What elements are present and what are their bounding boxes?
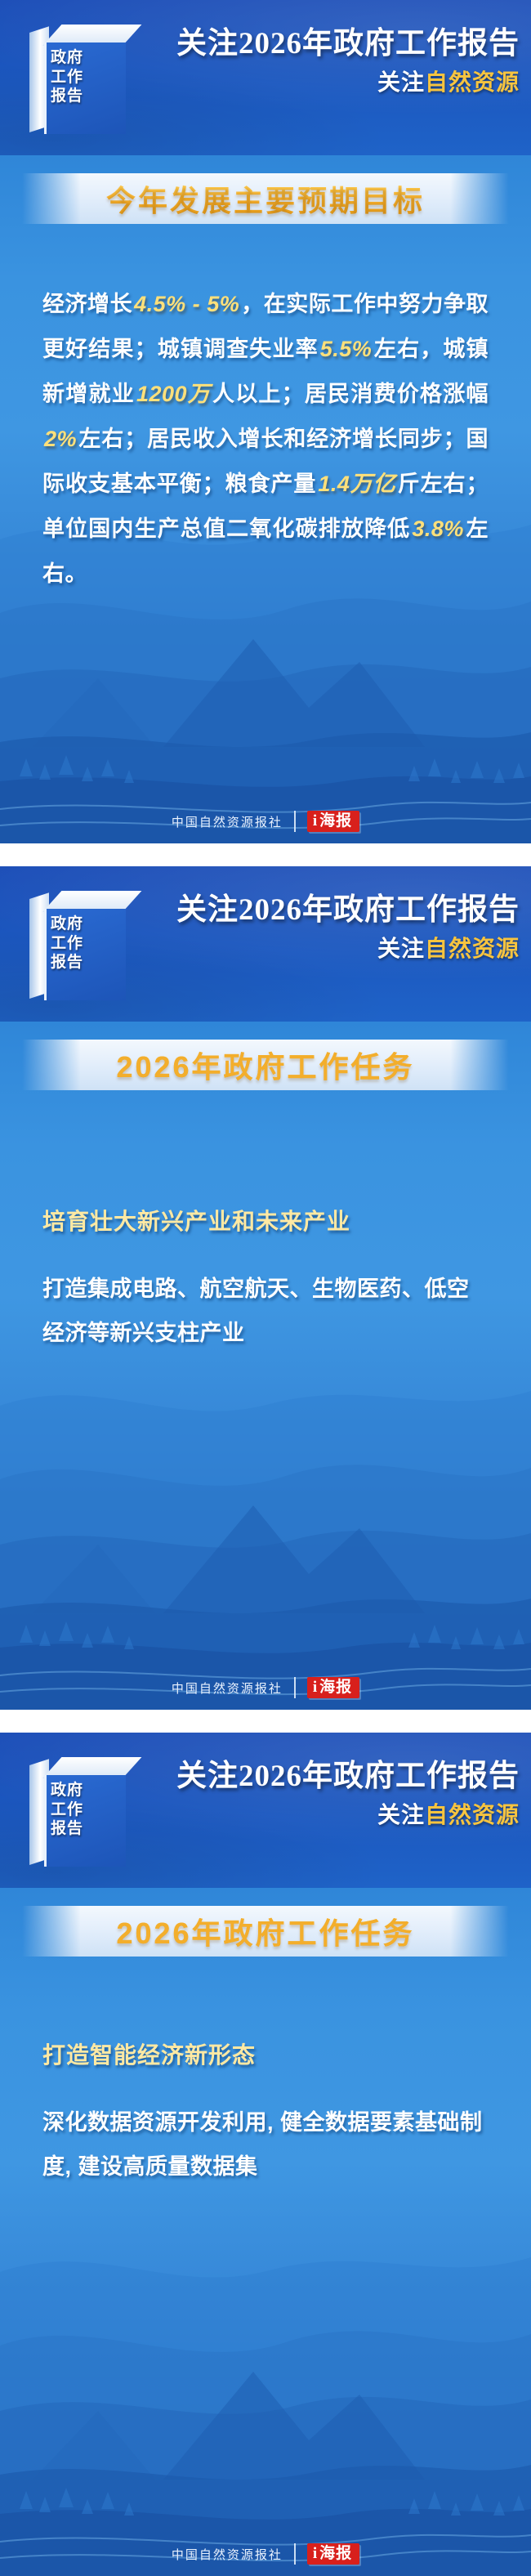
badge-label: 海报 — [319, 1679, 352, 1695]
publisher-name: 中国自然资源报社 — [172, 2546, 283, 2563]
section-banner: 2026年政府工作任务 — [22, 1040, 509, 1090]
header-titles: 关注2026年政府工作报告 关注自然资源 — [131, 1759, 520, 1828]
subtitle-accent: 自然资源 — [425, 1802, 520, 1827]
metric-value: 4.5% - 5% — [132, 292, 241, 316]
poster-stack: 政府 工作 报告 关注2026年政府工作报告 关注自然资源 — [0, 0, 531, 2576]
publisher-name: 中国自然资源报社 — [172, 813, 283, 830]
poster-footer: 中国自然资源报社 i 海报 — [0, 745, 531, 843]
book-label: 政府 工作 报告 — [51, 49, 126, 105]
task-body: 深化数据资源开发利用, 健全数据要素基础制度, 建设高质量数据集 — [42, 2100, 489, 2189]
book-label-line-2: 工作 — [51, 1801, 126, 1819]
footer-divider — [294, 811, 296, 832]
footer-bar: 中国自然资源报社 i 海报 — [0, 2543, 531, 2565]
section-banner-text: 2026年政府工作任务 — [116, 1910, 414, 1952]
goals-paragraph: 经济增长4.5% - 5%，在实际工作中努力争取更好结果；城镇调查失业率5.5%… — [42, 282, 489, 597]
poster-footer: 中国自然资源报社 i 海报 — [0, 2478, 531, 2576]
poster-header: 政府 工作 报告 关注2026年政府工作报告 关注自然资源 — [0, 866, 531, 1022]
report-book-icon: 政府 工作 报告 — [29, 891, 126, 999]
book-label-line-1: 政府 — [51, 1782, 126, 1800]
page-subtitle: 关注自然资源 — [131, 1801, 520, 1829]
paragraph-run: 经济增长 — [42, 292, 132, 316]
poster-header: 政府 工作 报告 关注2026年政府工作报告 关注自然资源 — [0, 1733, 531, 1888]
poster-content: 打造智能经济新形态 深化数据资源开发利用, 健全数据要素基础制度, 建设高质量数… — [0, 1957, 531, 2189]
section-banner: 2026年政府工作任务 — [22, 1906, 509, 1957]
poster-body: 2026年政府工作任务 打造智能经济新形态 深化数据资源开发利用, 健全数据要素… — [0, 1888, 531, 2576]
task-subtitle: 打造智能经济新形态 — [42, 2038, 489, 2073]
report-book-icon: 政府 工作 报告 — [29, 1757, 126, 1865]
section-banner-text: 2026年政府工作任务 — [116, 1044, 414, 1086]
metric-value: 3.8% — [410, 517, 466, 541]
book-label-line-2: 工作 — [51, 935, 126, 953]
book-label: 政府 工作 报告 — [51, 1782, 126, 1838]
page-subtitle: 关注自然资源 — [131, 69, 520, 96]
badge-label: 海报 — [319, 813, 352, 829]
footer-bar: 中国自然资源报社 i 海报 — [0, 1677, 531, 1698]
poster-header: 政府 工作 报告 关注2026年政府工作报告 关注自然资源 — [0, 0, 531, 155]
iposter-badge: i 海报 — [307, 2543, 359, 2565]
metric-value: 5.5% — [319, 337, 374, 361]
book-label-line-2: 工作 — [51, 69, 126, 87]
section-banner: 今年发展主要预期目标 — [22, 173, 509, 224]
publisher-name: 中国自然资源报社 — [172, 1679, 283, 1697]
section-banner-text: 今年发展主要预期目标 — [106, 177, 425, 220]
metric-value: 1.4万亿 — [316, 472, 397, 496]
page-subtitle: 关注自然资源 — [131, 935, 520, 963]
page-title: 关注2026年政府工作报告 — [131, 892, 520, 928]
header-titles: 关注2026年政府工作报告 关注自然资源 — [131, 26, 520, 96]
paragraph-run: 人以上；居民消费价格涨幅 — [212, 382, 489, 406]
badge-i-icon: i — [313, 2546, 317, 2561]
subtitle-prefix: 关注 — [377, 936, 425, 961]
book-label-line-3: 报告 — [51, 87, 126, 105]
metric-value: 2% — [42, 427, 78, 451]
metric-value: 1200万 — [135, 382, 212, 406]
subtitle-accent: 自然资源 — [425, 936, 520, 961]
poster-footer: 中国自然资源报社 i 海报 — [0, 1612, 531, 1710]
poster-body: 2026年政府工作任务 培育壮大新兴产业和未来产业 打造集成电路、航空航天、生物… — [0, 1022, 531, 1710]
book-label-line-3: 报告 — [51, 1820, 126, 1838]
iposter-badge: i 海报 — [307, 811, 359, 832]
poster-1: 政府 工作 报告 关注2026年政府工作报告 关注自然资源 — [0, 0, 531, 843]
subtitle-prefix: 关注 — [377, 69, 425, 95]
header-titles: 关注2026年政府工作报告 关注自然资源 — [131, 892, 520, 962]
task-body: 打造集成电路、航空航天、生物医药、低空经济等新兴支柱产业 — [42, 1267, 489, 1355]
iposter-badge: i 海报 — [307, 1677, 359, 1698]
book-label-line-3: 报告 — [51, 954, 126, 972]
badge-label: 海报 — [319, 2546, 352, 2561]
poster-2: 政府 工作 报告 关注2026年政府工作报告 关注自然资源 — [0, 866, 531, 1710]
book-label: 政府 工作 报告 — [51, 915, 126, 972]
book-label-line-1: 政府 — [51, 49, 126, 67]
poster-content: 经济增长4.5% - 5%，在实际工作中努力争取更好结果；城镇调查失业率5.5%… — [0, 224, 531, 597]
book-label-line-1: 政府 — [51, 915, 126, 933]
footer-divider — [294, 2543, 296, 2565]
footer-bar: 中国自然资源报社 i 海报 — [0, 811, 531, 832]
report-book-icon: 政府 工作 报告 — [29, 25, 126, 132]
poster-body: 今年发展主要预期目标 经济增长4.5% - 5%，在实际工作中努力争取更好结果；… — [0, 155, 531, 843]
task-subtitle: 培育壮大新兴产业和未来产业 — [42, 1205, 489, 1239]
badge-i-icon: i — [313, 1679, 317, 1695]
poster-3: 政府 工作 报告 关注2026年政府工作报告 关注自然资源 — [0, 1733, 531, 2576]
badge-i-icon: i — [313, 813, 317, 829]
page-title: 关注2026年政府工作报告 — [131, 26, 520, 62]
poster-content: 培育壮大新兴产业和未来产业 打造集成电路、航空航天、生物医药、低空经济等新兴支柱… — [0, 1090, 531, 1355]
subtitle-prefix: 关注 — [377, 1802, 425, 1827]
page-title: 关注2026年政府工作报告 — [131, 1759, 520, 1795]
subtitle-accent: 自然资源 — [425, 69, 520, 95]
footer-divider — [294, 1677, 296, 1698]
